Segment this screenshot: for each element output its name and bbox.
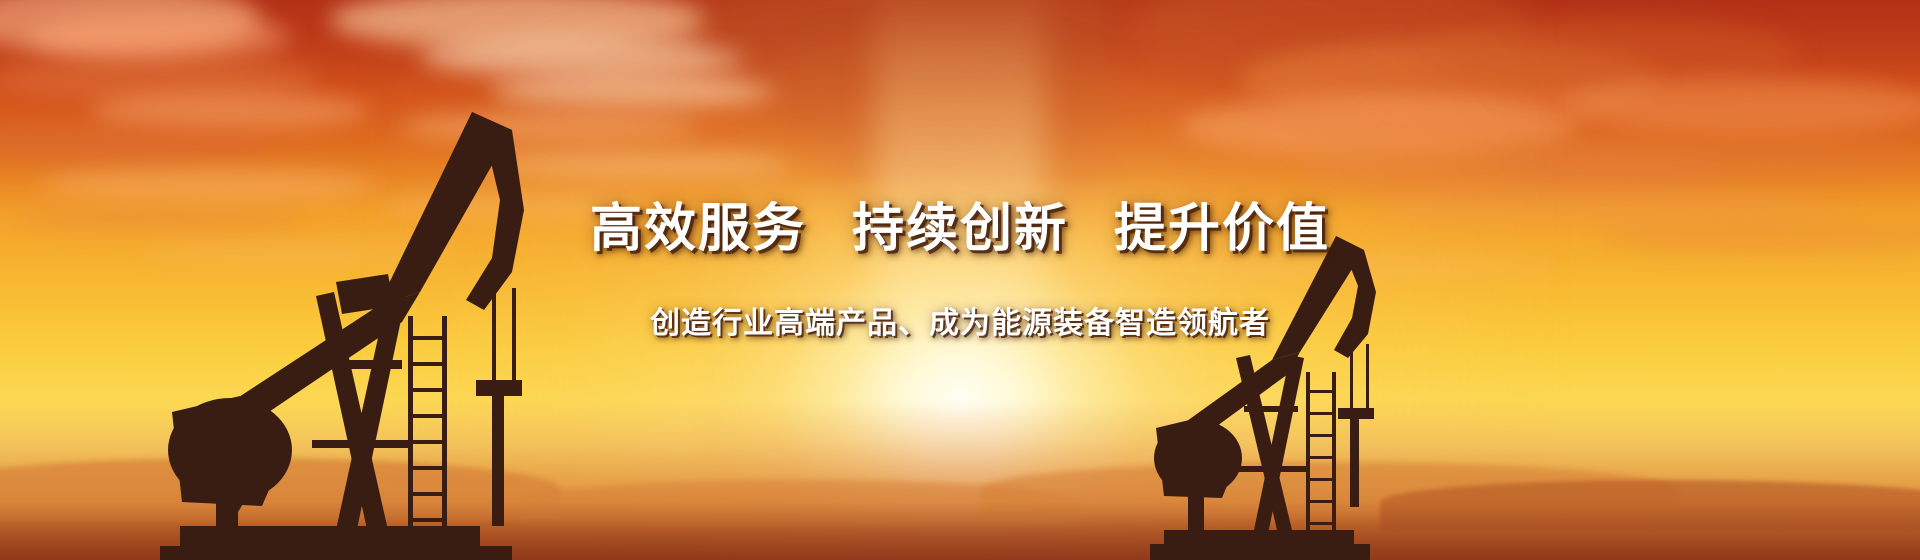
pumpjack-silhouette-right <box>1140 230 1440 560</box>
pumpjack-silhouette-left <box>120 60 540 560</box>
cloud <box>1600 220 1920 254</box>
cloud <box>1480 136 1920 184</box>
cloud <box>1560 78 1920 136</box>
cloud <box>30 12 290 62</box>
hero-banner: 高效服务持续创新提升价值 创造行业高端产品、成为能源装备智造领航者 <box>0 0 1920 560</box>
